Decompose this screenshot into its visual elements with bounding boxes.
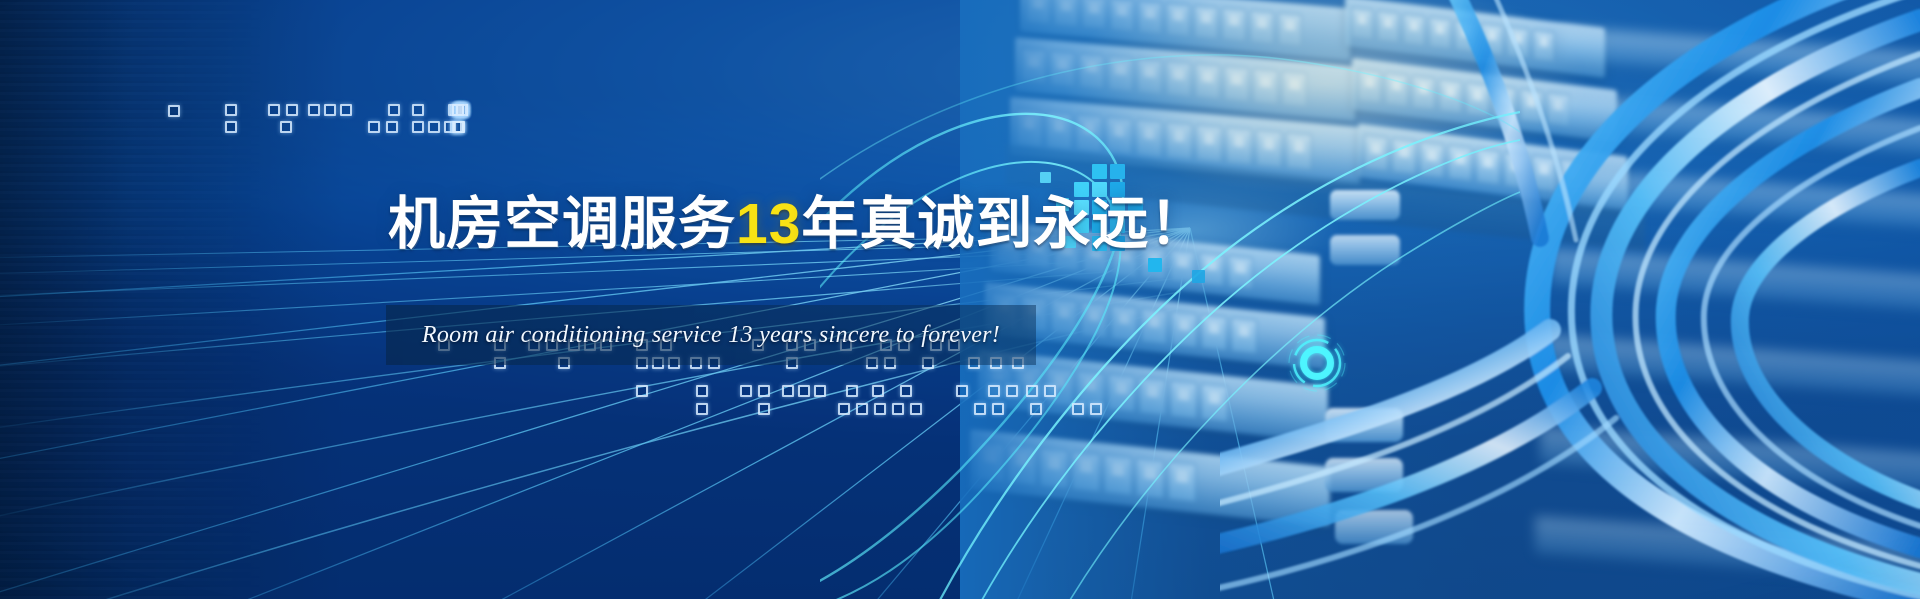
decor-square xyxy=(286,104,298,116)
decor-square xyxy=(456,104,468,116)
page-title: 机房空调服务13年真诚到永远！ xyxy=(388,196,1207,253)
decor-square xyxy=(455,104,467,116)
decor-square xyxy=(452,104,464,116)
decor-square xyxy=(450,121,462,133)
decor-square xyxy=(308,104,320,116)
decor-square xyxy=(696,385,708,397)
decor-square xyxy=(452,104,464,116)
decor-square xyxy=(758,403,770,415)
tech-ring-glow-icon xyxy=(1286,332,1348,394)
decor-square xyxy=(324,104,336,116)
decor-square xyxy=(268,104,280,116)
decor-square xyxy=(455,104,467,116)
decor-square xyxy=(386,121,398,133)
decor-square xyxy=(225,104,237,116)
decor-square xyxy=(452,121,464,133)
decor-square xyxy=(456,104,468,116)
decor-square xyxy=(456,104,468,116)
decor-square xyxy=(388,104,400,116)
decor-square xyxy=(452,104,464,116)
decor-square xyxy=(444,121,456,133)
decor-square xyxy=(782,385,794,397)
decor-square xyxy=(340,104,352,116)
decor-square xyxy=(368,121,380,133)
decor-square xyxy=(455,104,467,116)
decor-square xyxy=(456,104,468,116)
decor-square xyxy=(412,104,424,116)
decor-square xyxy=(456,104,468,116)
decor-square xyxy=(168,105,180,117)
decor-square xyxy=(456,104,468,116)
decor-square xyxy=(798,385,810,397)
decor-square xyxy=(740,385,752,397)
decor-square xyxy=(696,403,708,415)
decor-square xyxy=(452,104,464,116)
decor-square xyxy=(450,104,462,116)
page-subtitle: Room air conditioning service 13 years s… xyxy=(386,305,1036,365)
headline-part-2: 年真诚到永远！ xyxy=(801,192,1207,256)
decor-square xyxy=(280,121,292,133)
promo-banner: 机房空调服务13年真诚到永远！ Room air conditioning se… xyxy=(0,0,1920,599)
decor-square xyxy=(455,104,467,116)
decor-square xyxy=(455,104,467,116)
decor-square xyxy=(455,104,467,116)
decor-square xyxy=(428,121,440,133)
decor-square xyxy=(453,121,465,133)
headline-highlight-number: 13 xyxy=(736,192,801,256)
decor-square xyxy=(455,104,467,116)
decor-square xyxy=(456,104,468,116)
decor-square xyxy=(452,121,464,133)
decor-square xyxy=(456,104,468,116)
decor-square xyxy=(448,104,460,116)
decor-square xyxy=(456,104,468,116)
decor-square xyxy=(636,385,648,397)
decor-square xyxy=(758,385,770,397)
decor-square xyxy=(453,121,465,133)
decor-square xyxy=(452,104,464,116)
decor-square xyxy=(456,104,468,116)
cyan-light-swirls xyxy=(820,0,1520,599)
headline-part-1: 机房空调服务 xyxy=(388,192,736,256)
decor-square xyxy=(452,104,464,116)
decor-square xyxy=(455,104,467,116)
decor-square xyxy=(412,121,424,133)
decor-square xyxy=(452,121,464,133)
decor-square xyxy=(225,121,237,133)
